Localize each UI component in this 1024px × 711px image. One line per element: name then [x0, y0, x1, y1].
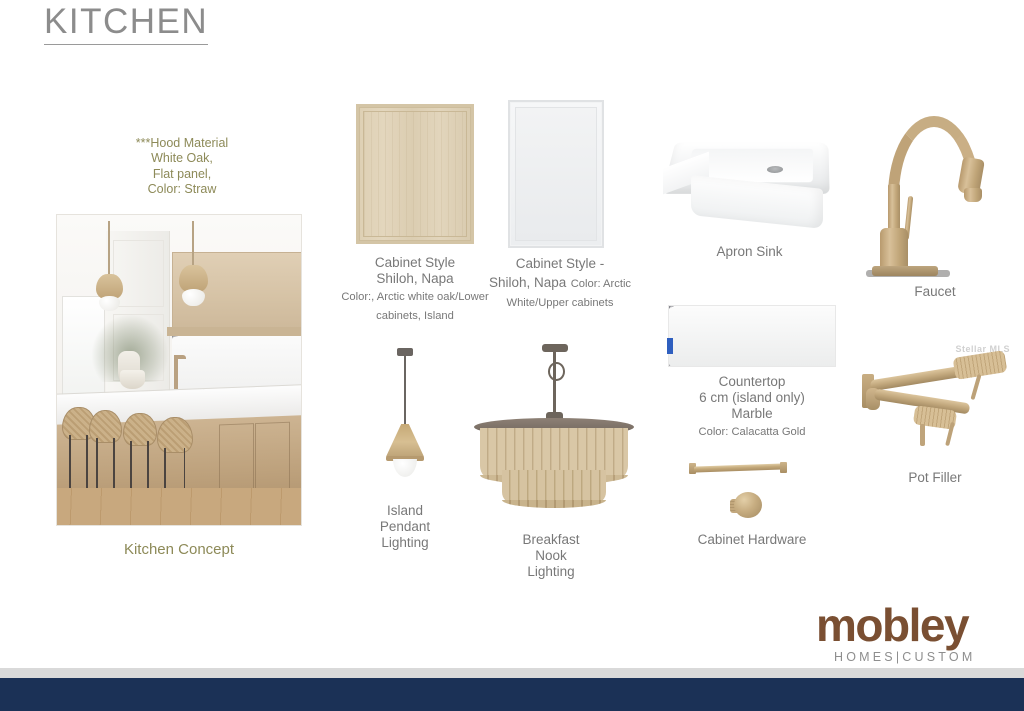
- logo-tagline-left: HOMES: [834, 650, 896, 664]
- cabinet-lower-detail: Color:, Arctic white oak/Lower cabinets,…: [341, 291, 488, 322]
- apron-sink-label: Apron Sink: [663, 244, 836, 260]
- cabinet-knob-image: [730, 492, 766, 524]
- mobley-logo: mobley HOMES|CUSTOM: [816, 604, 1012, 666]
- cabinet-pull-image: [688, 462, 788, 476]
- countertop-marble-swatch: [668, 305, 836, 367]
- breakfast-nook-chandelier-image: [468, 344, 640, 520]
- hood-material-note-text: ***Hood Material White Oak, Flat panel, …: [136, 136, 228, 196]
- cabinet-lower-title: Cabinet Style Shiloh, Napa: [340, 255, 490, 287]
- oak-cabinet-door-sample: [356, 104, 474, 244]
- faucet-image: [872, 110, 1012, 265]
- logo-wordmark: mobley: [816, 604, 1012, 648]
- logo-tagline: HOMES|CUSTOM: [816, 650, 1012, 664]
- apron-sink-image: [663, 132, 836, 228]
- cabinet-hardware-label: Cabinet Hardware: [660, 532, 844, 548]
- countertop-title: Countertop 6 cm (island only) Marble: [660, 374, 844, 422]
- page-title: KITCHEN: [44, 2, 208, 45]
- island-pendant-image: [384, 348, 426, 498]
- logo-tagline-right: CUSTOM: [902, 650, 975, 664]
- white-cabinet-door-sample: [508, 100, 604, 248]
- footer-gray-bar: [0, 668, 1024, 678]
- footer-navy-bar: [0, 678, 1024, 711]
- faucet-label: Faucet: [860, 284, 1010, 300]
- pot-filler-label: Pot Filler: [860, 470, 1010, 486]
- countertop-caption: Countertop 6 cm (island only) Marble Col…: [660, 374, 844, 441]
- kitchen-selections-board: KITCHEN ***Hood Material White Oak, Flat…: [0, 0, 1024, 711]
- pot-filler-image: Stellar MLS: [862, 340, 1012, 452]
- kitchen-concept-label: Kitchen Concept: [56, 541, 302, 559]
- cabinet-lower-caption: Cabinet Style Shiloh, Napa Color:, Arcti…: [340, 255, 490, 325]
- island-pendant-label: Island Pendant Lighting: [338, 503, 472, 551]
- hood-material-note: ***Hood Material White Oak, Flat panel, …: [108, 136, 256, 197]
- cabinet-upper-caption: Cabinet Style - Shiloh, Napa Color: Arct…: [483, 255, 637, 312]
- breakfast-nook-label: Breakfast Nook Lighting: [484, 532, 618, 580]
- countertop-detail: Color: Calacatta Gold: [699, 426, 806, 438]
- swatch-tag-icon: [667, 338, 673, 354]
- kitchen-concept-image: [56, 214, 302, 526]
